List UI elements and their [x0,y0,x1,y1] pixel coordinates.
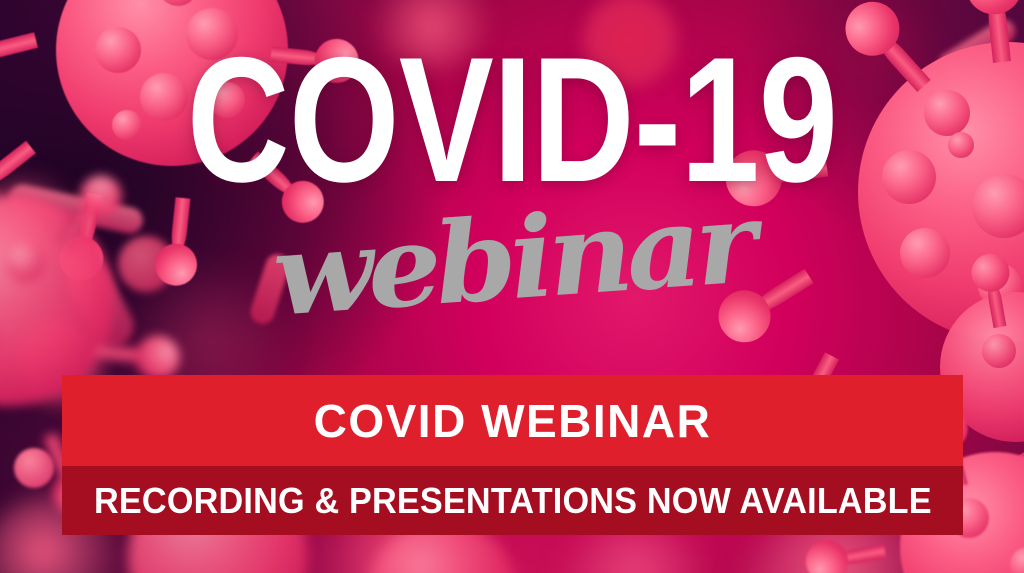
secondary-banner: RECORDING & PRESENTATIONS NOW AVAILABLE [62,466,963,535]
primary-banner: COVID WEBINAR [62,375,963,466]
virus-surface-nub [948,132,974,158]
secondary-banner-label: RECORDING & PRESENTATIONS NOW AVAILABLE [94,480,932,522]
covid-webinar-banner-graphic: COVID-19 webinar COVID WEBINAR RECORDING… [0,0,1024,573]
virus-surface-nub [924,90,970,136]
virus-surface-nub [982,334,1016,368]
virus-spike [961,0,1024,65]
primary-banner-label: COVID WEBINAR [314,394,712,448]
